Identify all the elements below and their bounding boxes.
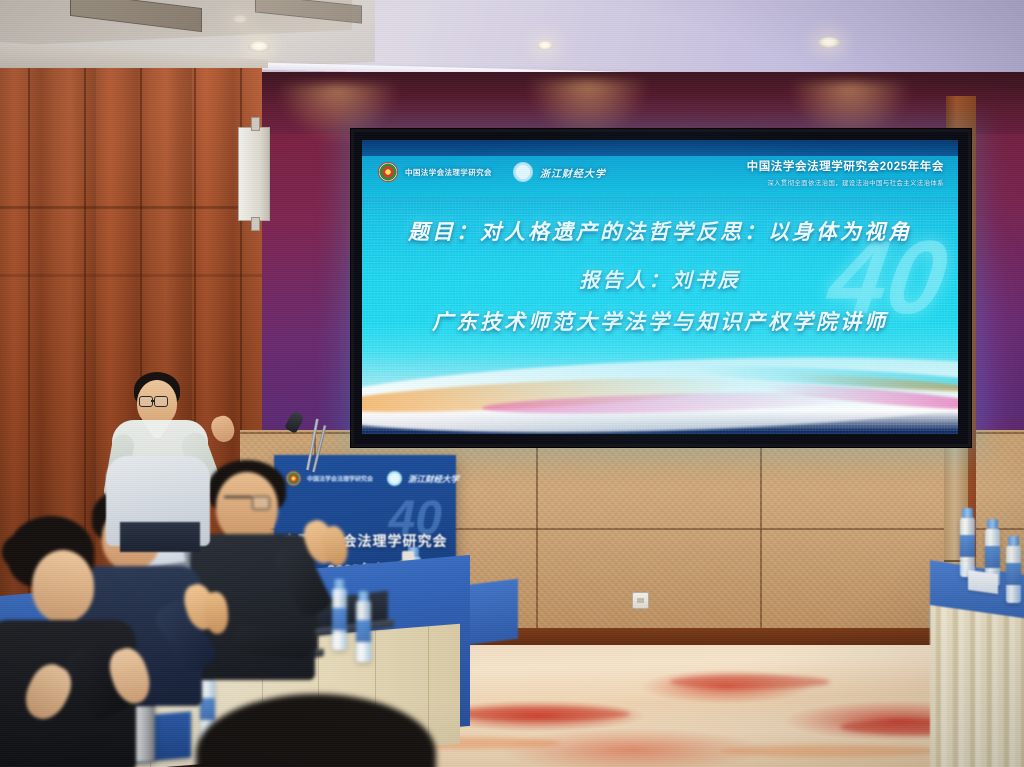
conference-subtitle: 深入贯彻全面依法治国，建设法治中国与社会主义法治体系 [747, 177, 944, 187]
society-logo-label: 中国法学会法理学研究会 [405, 167, 492, 178]
bottle-label [1006, 563, 1021, 585]
downlight-icon-4 [232, 15, 248, 24]
bottle-cap [987, 519, 998, 529]
led-presentation-screen[interactable]: 中国法学会法理学研究会 浙江财经大学 中国法学会法理学研究会2025年年会 深入… [362, 140, 958, 434]
water-bottle[interactable] [1006, 545, 1021, 603]
slide-title-line: 题目：对人格遗产的法哲学反思：以身体为视角 [362, 216, 958, 246]
audience-member-back-head [96, 440, 216, 540]
bottle-label [960, 535, 975, 557]
downlight-icon-1 [248, 41, 270, 52]
screen-header-right: 中国法学会法理学研究会2025年年会 深入贯彻全面依法治国，建设法治中国与社会主… [747, 158, 944, 187]
speaker-bracket-bottom [251, 217, 260, 231]
bottle-cap [358, 591, 369, 601]
podium-university-logo-label: 浙江财经大学 [408, 473, 459, 485]
audience-head [32, 550, 94, 622]
conference-room-photo: 中国法学会法理学研究会 浙江财经大学 中国法学会法理学研究会2025年年会 深入… [0, 0, 1024, 767]
presenter-glasses-left-lens [139, 396, 153, 407]
speaker-bracket-top [251, 117, 260, 131]
audience-member-foreground-head [196, 694, 436, 767]
audience-hair-bun-knot [2, 534, 40, 570]
conference-title: 中国法学会法理学研究会2025年年会 [747, 158, 944, 174]
university-logo-label: 浙江财经大学 [540, 165, 606, 180]
university-emblem-icon [513, 162, 533, 182]
audience-glasses-lens [252, 496, 270, 510]
water-bottle[interactable] [960, 517, 975, 577]
screen-logo-row: 中国法学会法理学研究会 浙江财经大学 [378, 162, 606, 182]
bottle-label [356, 620, 371, 642]
water-bottle[interactable] [356, 600, 371, 662]
downlight-icon-2 [537, 41, 553, 50]
slide-presenter-line: 报告人：刘书辰 [362, 264, 958, 293]
carpet-motif [670, 675, 830, 689]
bottle-cap [1008, 536, 1019, 546]
wall-speaker [238, 127, 270, 221]
presenter-glasses-bridge [151, 400, 155, 402]
slide-decorative-waves [362, 348, 958, 434]
foreground-hair [196, 694, 436, 767]
downlight-icon-3 [818, 37, 840, 48]
name-tent-card [968, 570, 998, 594]
society-emblem-icon [378, 162, 398, 182]
back-person-dark-trousers [120, 522, 200, 552]
power-outlet[interactable] [632, 592, 649, 609]
podium-university-emblem-icon [387, 471, 402, 486]
slide-affiliation-line: 广东技术师范大学法学与知识产权学院讲师 [362, 306, 958, 336]
panel-divider [536, 430, 538, 645]
audience-member-clapping-front-left [0, 516, 160, 767]
screen-top-bar [362, 140, 958, 156]
bottle-label [985, 546, 1000, 568]
panel-divider [760, 430, 762, 645]
presenter-glasses-right-lens [154, 396, 168, 407]
audience-glasses-temple [224, 496, 252, 498]
wood-horizontal-band [0, 206, 262, 209]
right-table-skirt [930, 605, 1024, 767]
carpet-motif [450, 707, 630, 721]
bottle-cap [962, 508, 973, 518]
carpet-motif [720, 745, 940, 757]
wood-horizontal-band [0, 274, 262, 277]
